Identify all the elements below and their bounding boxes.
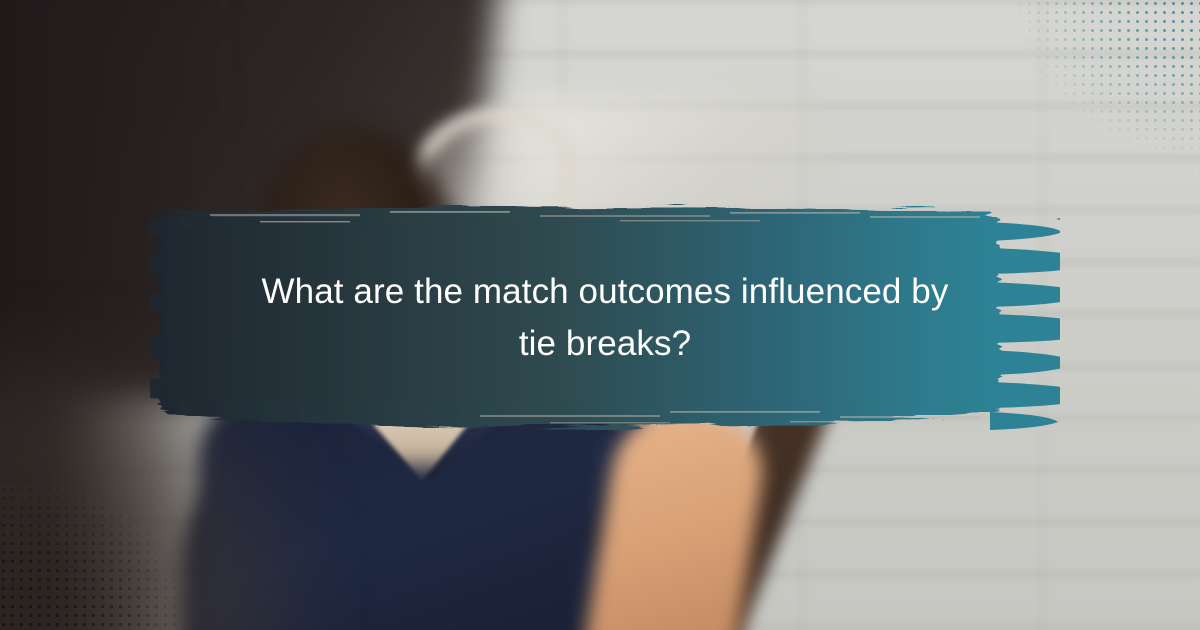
headline-line-2: tie breaks? xyxy=(519,318,691,370)
headline-line-1: What are the match outcomes influenced b… xyxy=(262,266,949,318)
page-title: What are the match outcomes influenced b… xyxy=(180,196,1030,440)
question-card: What are the match outcomes influenced b… xyxy=(0,0,1200,630)
